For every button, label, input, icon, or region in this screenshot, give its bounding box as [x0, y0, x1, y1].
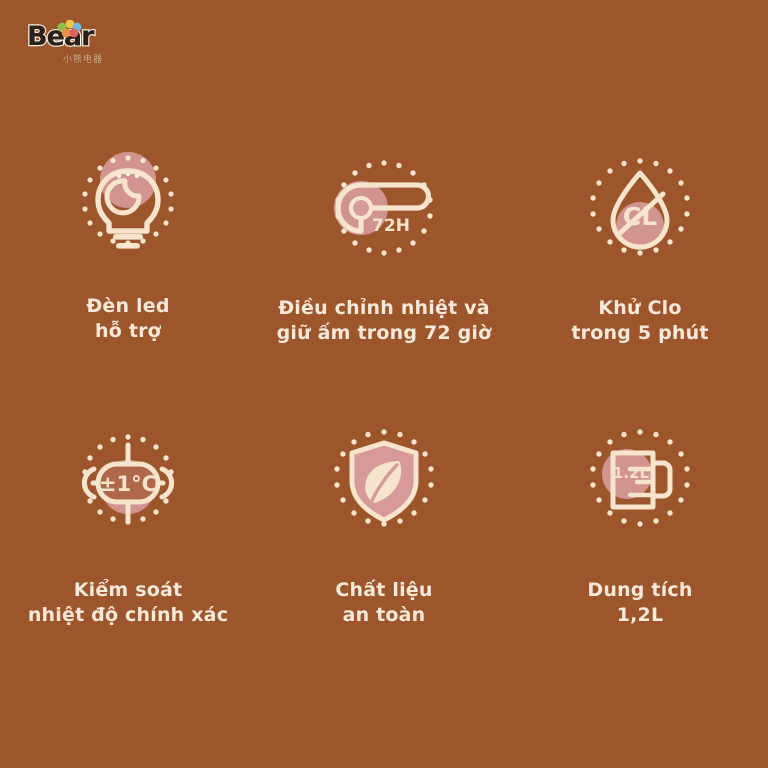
measuring-jug-icon: 1.2L [575, 417, 705, 547]
feature-label: Kiểm soát nhiệt độ chính xác [28, 578, 228, 628]
capacity-text: 1.2L [613, 464, 650, 482]
feature-label: Khử Clo trong 5 phút [571, 296, 708, 346]
precision-text: ±1°C [99, 472, 157, 496]
feature-item-led-light: Đèn led hỗ trợ [0, 118, 256, 399]
feature-label: Điều chỉnh nhiệt và giữ ấm trong 72 giờ [277, 296, 492, 346]
kettle-precision-icon: ±1°C [63, 417, 193, 547]
feature-label: Chất liệu an toàn [335, 578, 432, 628]
feature-item-chlorine-removal: CL Khử Clo trong 5 phút [512, 118, 768, 399]
feature-item-precision-control: ±1°C Kiểm soát nhiệt độ chính xác [0, 399, 256, 680]
flower-icon [54, 20, 84, 42]
bear-logo: Bear Bear 小熊电器 [27, 22, 147, 66]
thermometer-icon: 72H [319, 146, 449, 276]
feature-label: Dung tích 1,2L [587, 578, 692, 628]
thermometer-hours-text: 72H [372, 216, 410, 236]
shield-leaf-icon [319, 417, 449, 547]
feature-item-safe-material: Chất liệu an toàn [256, 399, 512, 680]
features-grid: Đèn led hỗ trợ [0, 118, 768, 680]
feature-item-temperature-hold: 72H Điều chỉnh nhiệt và giữ ấm trong 72 … [256, 118, 512, 399]
lightbulb-moon-icon [63, 138, 193, 268]
logo-subtext: 小熊电器 [63, 52, 103, 65]
feature-label: Đèn led hỗ trợ [86, 294, 169, 344]
feature-item-capacity: 1.2L Dung tích 1,2L [512, 399, 768, 680]
water-drop-chlorine-icon: CL [575, 146, 705, 276]
